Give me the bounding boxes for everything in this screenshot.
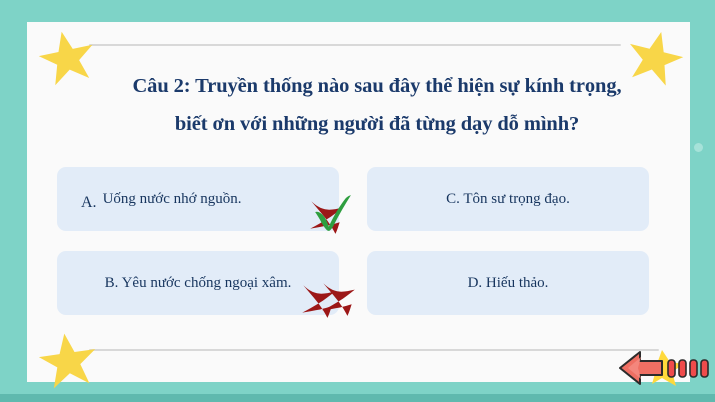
dot-icon — [694, 143, 703, 152]
answer-text-a: Uống nước nhớ nguồn. — [103, 188, 242, 211]
divider-bottom — [89, 349, 659, 351]
bottom-accent-strip — [0, 394, 715, 402]
answer-label-a: A. — [81, 191, 97, 227]
question-line-1: Câu 2: Truyền thống nào sau đây thể hiện… — [27, 68, 715, 106]
quiz-slide: Câu 2: Truyền thống nào sau đây thể hiện… — [0, 0, 715, 402]
answer-options: A. Uống nước nhớ nguồn. C. Tôn sư trọng … — [57, 167, 677, 315]
content-card: Câu 2: Truyền thống nào sau đây thể hiện… — [27, 22, 690, 382]
back-arrow-icon[interactable] — [618, 348, 710, 388]
answer-option-d[interactable]: D. Hiếu thảo. — [367, 251, 649, 315]
question-line-2: biết ơn với những người đã từng dạy dỗ m… — [27, 106, 715, 144]
answer-option-b[interactable]: B. Yêu nước chống ngoại xâm. — [57, 251, 339, 315]
answer-text-d: D. Hiếu thảo. — [468, 272, 549, 295]
page-title: Câu 2: Truyền thống nào sau đây thể hiện… — [27, 68, 715, 144]
answer-option-c[interactable]: C. Tôn sư trọng đạo. — [367, 167, 649, 231]
answer-text-b: B. Yêu nước chống ngoại xâm. — [97, 272, 300, 295]
answer-text-c: C. Tôn sư trọng đạo. — [446, 188, 570, 211]
divider-top — [89, 44, 621, 46]
answer-option-a[interactable]: A. Uống nước nhớ nguồn. — [57, 167, 339, 231]
